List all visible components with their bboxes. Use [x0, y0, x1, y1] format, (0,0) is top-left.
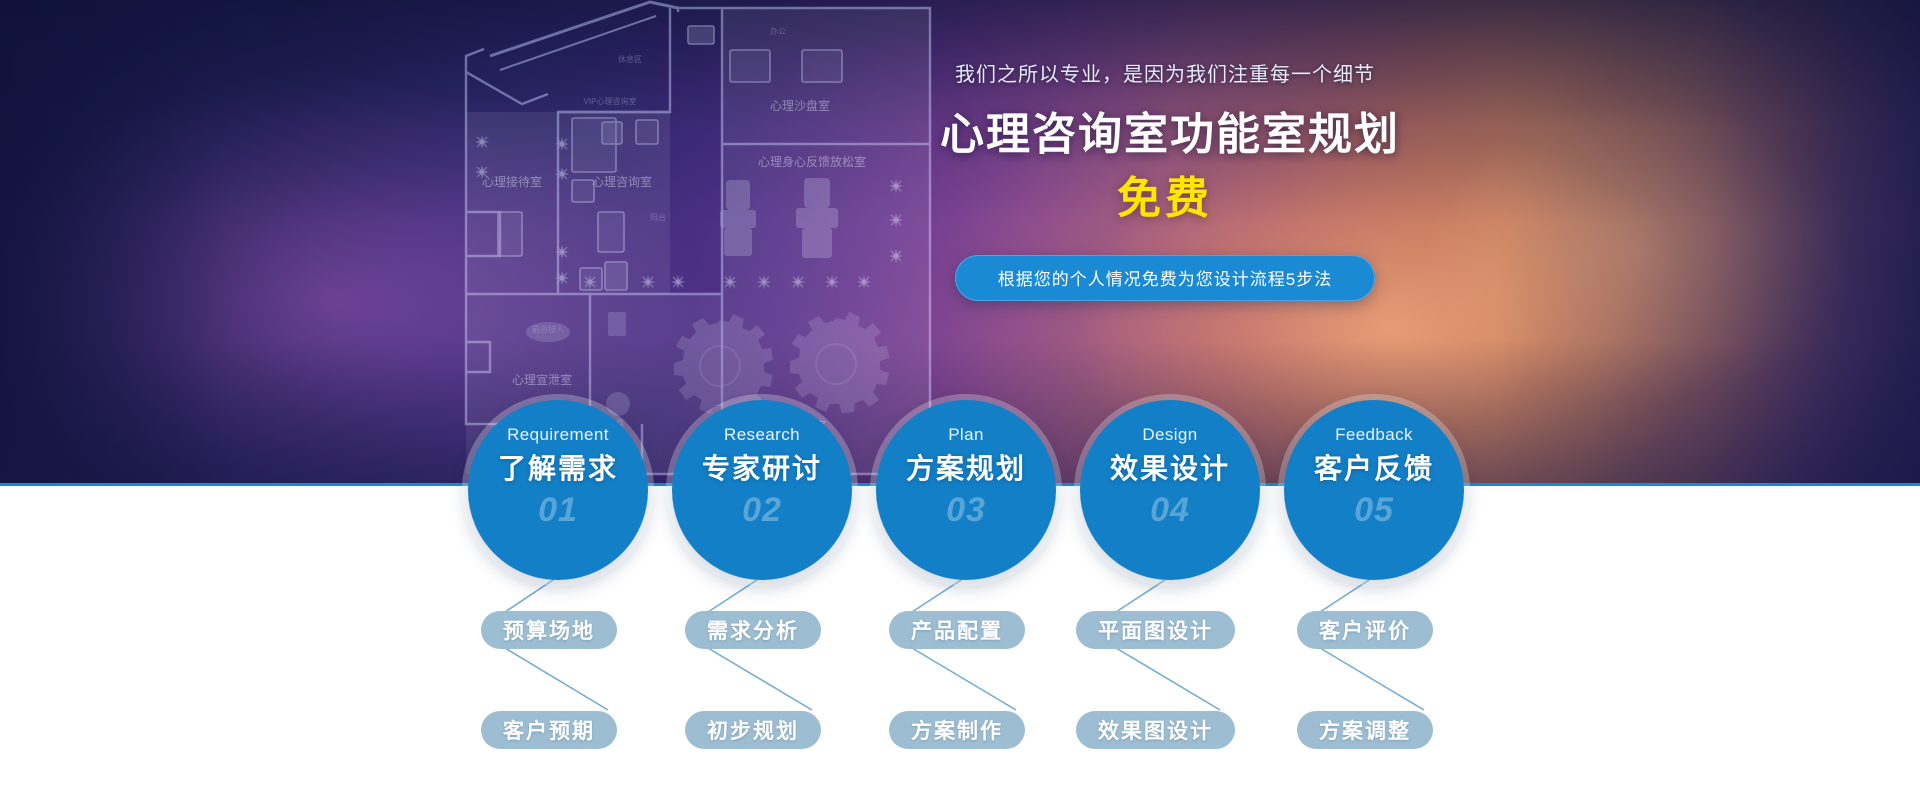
step-1-en-label: Requirement — [507, 426, 609, 443]
step-3-number: 03 — [946, 493, 986, 527]
step-4-sub-2[interactable]: 效果图设计 — [1076, 711, 1235, 749]
step-1-circle[interactable]: Requirement 了解需求 01 — [468, 400, 648, 580]
step-4-sub-1[interactable]: 平面图设计 — [1076, 611, 1235, 649]
step-2-sub-1[interactable]: 需求分析 — [685, 611, 821, 649]
step-4-en-label: Design — [1142, 426, 1197, 443]
step-4-number: 04 — [1150, 493, 1190, 527]
step-1[interactable]: Requirement 了解需求 01 — [468, 400, 648, 580]
step-3-en-label: Plan — [948, 426, 984, 443]
step-2-sub-2[interactable]: 初步规划 — [685, 711, 821, 749]
step-1-sub-2[interactable]: 客户预期 — [481, 711, 617, 749]
step-3-cn-label: 方案规划 — [906, 455, 1026, 483]
step-5-en-label: Feedback — [1335, 426, 1413, 443]
step-2-en-label: Research — [724, 426, 800, 443]
step-5-sub-2[interactable]: 方案调整 — [1297, 711, 1433, 749]
step-3[interactable]: Plan 方案规划 03 — [876, 400, 1056, 580]
step-2[interactable]: Research 专家研讨 02 — [672, 400, 852, 580]
step-5[interactable]: Feedback 客户反馈 05 — [1284, 400, 1464, 580]
process-steps: Requirement 了解需求 01 预算场地 客户预期 Research 专… — [0, 0, 1920, 810]
step-2-number: 02 — [742, 493, 782, 527]
step-3-sub-1[interactable]: 产品配置 — [889, 611, 1025, 649]
step-5-number: 05 — [1354, 493, 1394, 527]
step-5-sub-1[interactable]: 客户评价 — [1297, 611, 1433, 649]
step-4-cn-label: 效果设计 — [1110, 455, 1230, 483]
step-1-sub-1[interactable]: 预算场地 — [481, 611, 617, 649]
step-2-cn-label: 专家研讨 — [702, 455, 822, 483]
promo-banner: 心理沙盘室 心理身心反馈放松室 心理接待室 心理咨询室 心理宣泄室 心理团体活动… — [0, 0, 1920, 810]
step-3-circle[interactable]: Plan 方案规划 03 — [876, 400, 1056, 580]
step-3-sub-2[interactable]: 方案制作 — [889, 711, 1025, 749]
step-1-cn-label: 了解需求 — [498, 455, 618, 483]
step-1-number: 01 — [538, 493, 578, 527]
step-4-circle[interactable]: Design 效果设计 04 — [1080, 400, 1260, 580]
step-2-circle[interactable]: Research 专家研讨 02 — [672, 400, 852, 580]
step-5-circle[interactable]: Feedback 客户反馈 05 — [1284, 400, 1464, 580]
step-5-cn-label: 客户反馈 — [1314, 455, 1434, 483]
step-4[interactable]: Design 效果设计 04 — [1080, 400, 1260, 580]
